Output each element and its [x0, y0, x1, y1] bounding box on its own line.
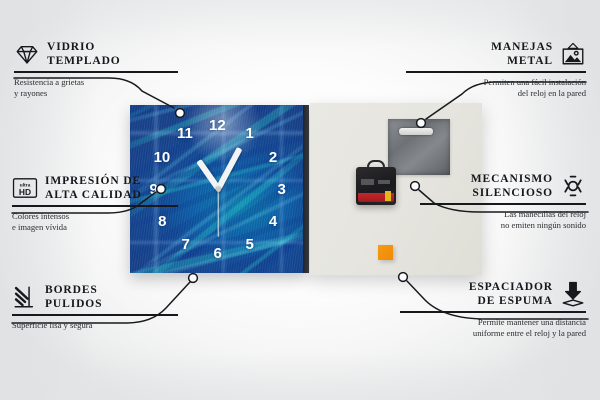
clock-numeral: 12 — [209, 118, 226, 133]
gear-icon — [560, 173, 586, 199]
glass-edge — [303, 105, 309, 273]
feature-heading: BORDESPULIDOS — [12, 283, 192, 311]
foam-spacer-icon — [560, 281, 586, 307]
clock-hand-second — [217, 189, 218, 237]
feature-description: Permiten una fácil instalacióndel reloj … — [406, 77, 586, 100]
metal-hanger-plate — [388, 119, 450, 175]
feature-heading: ultra HD IMPRESIÓN DEALTA CALIDAD — [12, 174, 192, 202]
ultra-hd-icon: ultra HD — [12, 175, 38, 201]
feature-vidrio-templado: VIDRIOTEMPLADO Resistencia a grietasy ra… — [14, 40, 184, 100]
clock-numeral: 6 — [214, 246, 222, 261]
clock-numeral: 11 — [177, 126, 193, 141]
feature-mecanismo-silencioso: MECANISMOSILENCIOSO Las manecillas del r… — [420, 172, 586, 232]
feature-description: Colores intensose imagen vívida — [12, 211, 192, 234]
mechanism-detail — [361, 179, 374, 185]
feature-title: ESPACIADORDE ESPUMA — [469, 280, 553, 308]
svg-text:HD: HD — [19, 187, 31, 197]
feature-title: IMPRESIÓN DEALTA CALIDAD — [45, 174, 142, 202]
feature-title: MANEJASMETAL — [491, 40, 553, 68]
feature-divider — [420, 203, 586, 205]
feature-divider — [400, 311, 586, 313]
foam-spacer — [378, 245, 393, 260]
feature-divider — [12, 314, 178, 316]
hanger-slot — [399, 128, 433, 135]
feature-title: BORDESPULIDOS — [45, 283, 102, 311]
feature-impresion-alta-calidad: ultra HD IMPRESIÓN DEALTA CALIDAD Colore… — [12, 174, 192, 234]
mechanism-hook — [367, 160, 385, 169]
diamond-icon — [14, 41, 40, 67]
hanging-frame-icon — [560, 41, 586, 67]
clock-numeral: 1 — [246, 126, 254, 141]
feature-divider — [12, 205, 178, 207]
feature-description: Resistencia a grietasy rayones — [14, 77, 184, 100]
feature-divider — [406, 71, 586, 73]
clock-numeral: 7 — [182, 237, 190, 252]
clock-numeral: 3 — [278, 182, 286, 197]
feature-espaciador-espuma: ESPACIADORDE ESPUMA Permite mantener una… — [400, 280, 586, 340]
clock-center-pin — [216, 187, 221, 192]
feature-description: Superficie lisa y segura — [12, 320, 192, 332]
clock-numeral: 5 — [246, 237, 254, 252]
feature-description: Permite mantener una distanciauniforme e… — [400, 317, 586, 340]
feature-heading: MECANISMOSILENCIOSO — [420, 172, 586, 200]
mechanism-battery-yellow — [385, 191, 391, 201]
feature-bordes-pulidos: BORDESPULIDOS Superficie lisa y segura — [12, 283, 192, 331]
feature-heading: ESPACIADORDE ESPUMA — [400, 280, 586, 308]
clock-mechanism — [356, 167, 396, 205]
infographic-canvas: 121234567891011 — [0, 0, 600, 400]
clock-numeral: 4 — [269, 214, 277, 229]
polished-edges-icon — [12, 284, 38, 310]
feature-heading: MANEJASMETAL — [406, 40, 586, 68]
feature-manejas-metal: MANEJASMETAL Permiten una fácil instalac… — [406, 40, 586, 100]
feature-heading: VIDRIOTEMPLADO — [14, 40, 184, 68]
clock-numeral: 2 — [269, 150, 277, 165]
feature-description: Las manecillas del relojno emiten ningún… — [420, 209, 586, 232]
mechanism-detail — [378, 180, 390, 184]
feature-title: MECANISMOSILENCIOSO — [471, 172, 553, 200]
feature-title: VIDRIOTEMPLADO — [47, 40, 121, 68]
clock-numeral: 10 — [154, 150, 171, 165]
feature-divider — [14, 71, 178, 73]
